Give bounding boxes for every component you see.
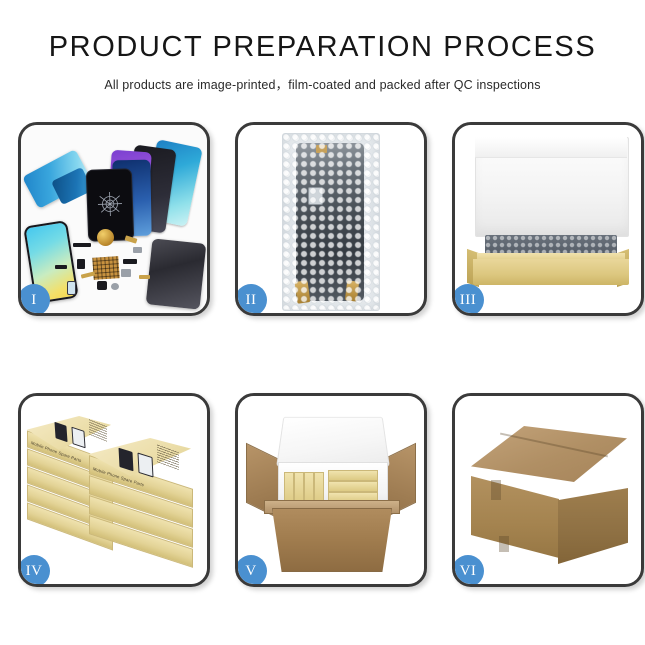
part-flex-1 [125, 235, 138, 243]
step-numeral-6: VI [460, 563, 477, 580]
box-stack: Mobile Phone Spare Parts Mobile Phone Sp… [27, 410, 201, 570]
step-caption-1: Mobile phone screens and spare parts lai… [21, 125, 22, 126]
part-camera-icon [111, 283, 119, 290]
wrapped-part-icon [296, 143, 364, 301]
sealed-carton-front-icon [471, 476, 559, 558]
step-caption-4: Boxes stacked for bulk packing [21, 396, 22, 397]
step-badge-6: VI [452, 555, 484, 587]
step-badge-3: III [452, 284, 484, 316]
step-image-5 [238, 396, 424, 584]
step-caption-5: Packed into foam-lined shipping carton [238, 396, 239, 397]
part-speaker-icon [97, 281, 107, 290]
box-print-screen-light-back [71, 427, 85, 449]
step-caption-2: Part sealed in bubble wrap [238, 125, 239, 126]
phone-back-cover-icon [146, 238, 207, 309]
part-tab-icon [316, 145, 327, 153]
step-badge-2: II [235, 284, 267, 316]
sealed-carton-side-icon [558, 488, 628, 564]
step-numeral-1: I [31, 292, 37, 309]
step-panel-4: Mobile Phone Spare Parts Mobile Phone Sp… [18, 393, 210, 587]
step-numeral-2: II [246, 292, 257, 309]
yellow-box-5 [328, 470, 378, 481]
header: PRODUCT PREPARATION PROCESS All products… [0, 0, 645, 93]
foam-box-lid-icon [276, 417, 390, 467]
step-image-3 [455, 125, 641, 313]
step-panel-6: VI Carton sealed and ready to ship [452, 393, 644, 587]
step-badge-4: IV [18, 555, 50, 587]
page-title: PRODUCT PREPARATION PROCESS [0, 33, 645, 62]
step-caption-3: Placed in yellow kraft box with foam and… [455, 125, 456, 126]
part-connector-icon [308, 187, 323, 205]
carton-corner-mark-bottom-icon [499, 536, 509, 552]
page-subtitle: All products are image-printed，film-coat… [0, 74, 645, 93]
part-metal-2 [121, 269, 131, 277]
step-numeral-4: IV [26, 563, 43, 580]
steps-grid: I Mobile phone screens and spare parts l… [18, 122, 627, 581]
part-metal-1 [133, 247, 142, 253]
step-numeral-5: V [245, 563, 256, 580]
step-panel-3: III Placed in yellow kraft box with foam… [452, 122, 644, 316]
part-gold-flex-right-icon [345, 280, 359, 301]
step-image-4: Mobile Phone Spare Parts Mobile Phone Sp… [21, 396, 207, 584]
part-chip-1 [77, 259, 85, 269]
part-flex-3 [139, 275, 150, 279]
box-print-text-lines-back [89, 418, 107, 441]
carton-body-icon [272, 508, 392, 572]
step-image-6 [455, 396, 641, 584]
step-caption-6: Carton sealed and ready to ship [455, 396, 456, 397]
part-chip-2 [123, 259, 137, 264]
step-panel-2: II Part sealed in bubble wrap [235, 122, 427, 316]
part-strip-1 [73, 243, 91, 247]
product-preparation-infographic: PRODUCT PREPARATION PROCESS All products… [0, 0, 645, 645]
step-panel-5: V Packed into foam-lined shipping carton [235, 393, 427, 587]
connector-grid-icon [92, 256, 119, 280]
step-panel-1: I Mobile phone screens and spare parts l… [18, 122, 210, 316]
kraft-box-front-icon [473, 259, 629, 285]
foam-sheet-top-edge-icon [475, 137, 627, 158]
step-numeral-3: III [460, 292, 477, 309]
step-image-2 [238, 125, 424, 313]
part-battery-icon [67, 281, 76, 295]
carton-corner-mark-top-icon [491, 480, 501, 500]
step-image-1 [21, 125, 207, 313]
step-badge-1: I [18, 284, 50, 316]
copper-coil-icon [97, 229, 114, 246]
step-badge-5: V [235, 555, 267, 587]
part-strip-2 [55, 265, 67, 269]
crack-icon [96, 189, 123, 218]
yellow-box-6 [328, 481, 378, 492]
